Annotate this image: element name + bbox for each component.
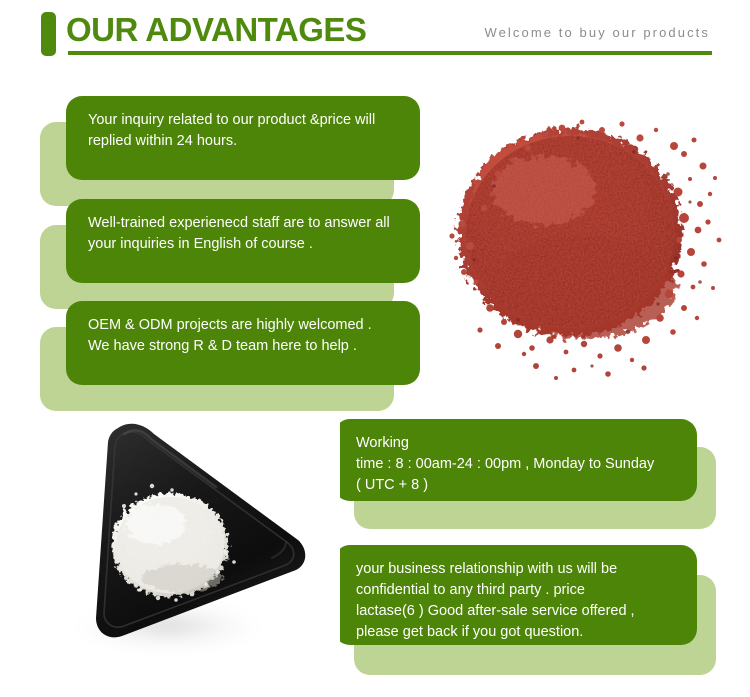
callout-body: OEM & ODM projects are highly welcomed .… bbox=[66, 301, 420, 385]
header-divider bbox=[68, 51, 712, 55]
callout-line: time : 8 : 00am-24 : 00pm , Monday to Su… bbox=[356, 454, 677, 475]
callout-line: We have strong R & D team here to help . bbox=[88, 336, 400, 357]
callout-body: Well-trained experienecd staff are to an… bbox=[66, 199, 420, 283]
callout-line: lactase(6 ) Good after-sale service offe… bbox=[356, 601, 677, 622]
callout-line: Your inquiry related to our product &pri… bbox=[88, 110, 400, 131]
callout-confidentiality-and-service: your business relationship with us will … bbox=[334, 545, 716, 675]
callout-body: Your inquiry related to our product &pri… bbox=[66, 96, 420, 180]
callout-working-time: Working time : 8 : 00am-24 : 00pm , Mond… bbox=[334, 419, 716, 529]
callout-line: ( UTC + 8 ) bbox=[356, 475, 677, 496]
callout-line: please get back if you got question. bbox=[356, 622, 677, 643]
white-powder-in-black-bowl-photo bbox=[40, 412, 340, 664]
callout-line: your inquiries in English of course . bbox=[88, 234, 400, 255]
callout-line: Well-trained experienecd staff are to an… bbox=[88, 213, 400, 234]
red-powder-pile-photo bbox=[432, 82, 744, 398]
header: OUR ADVANTAGES Welcome to buy our produc… bbox=[0, 0, 750, 72]
callout-inquiry-reply-time: Your inquiry related to our product &pri… bbox=[40, 96, 430, 208]
accent-bar-icon bbox=[41, 12, 56, 56]
callout-line: OEM & ODM projects are highly welcomed . bbox=[88, 315, 400, 336]
page-title: OUR ADVANTAGES bbox=[66, 9, 366, 51]
callout-line: confidential to any third party . price bbox=[356, 580, 677, 601]
callout-line: Working bbox=[356, 433, 677, 454]
callout-body: Working time : 8 : 00am-24 : 00pm , Mond… bbox=[334, 419, 697, 501]
callout-line: replied within 24 hours. bbox=[88, 131, 400, 152]
callout-line: your business relationship with us will … bbox=[356, 559, 677, 580]
header-tagline: Welcome to buy our products bbox=[484, 25, 710, 40]
callout-body: your business relationship with us will … bbox=[334, 545, 697, 645]
callout-oem-odm: OEM & ODM projects are highly welcomed .… bbox=[40, 301, 430, 413]
advantages-banner: OUR ADVANTAGES Welcome to buy our produc… bbox=[0, 0, 750, 697]
callout-trained-staff: Well-trained experienecd staff are to an… bbox=[40, 199, 430, 311]
